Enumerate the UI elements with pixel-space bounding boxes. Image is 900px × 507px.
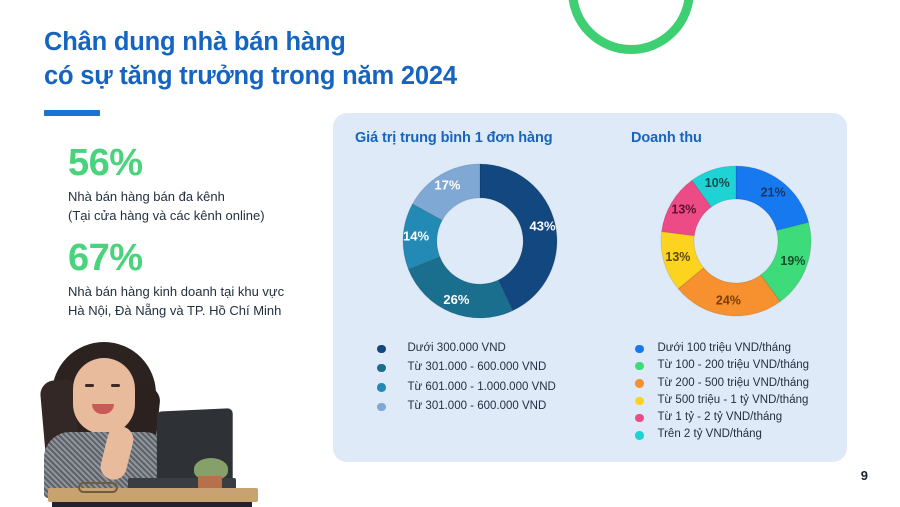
stats-list: 56% Nhà bán hàng bán đa kênh (Tại cửa hà… [68, 144, 328, 335]
stat-description: Nhà bán hàng bán đa kênh (Tại cửa hàng v… [68, 188, 328, 226]
donut-slice-label: 13% [665, 250, 690, 264]
donut-slice-label: 17% [434, 177, 460, 192]
stat-value: 56% [68, 144, 328, 183]
donut-slice-label: 43% [530, 218, 556, 233]
legend-color-dot-icon [377, 345, 386, 354]
legend-item[interactable]: Dưới 300.000 VND [355, 342, 605, 356]
legend-label: Từ 100 - 200 triệu VND/tháng [658, 359, 810, 373]
legend-label: Từ 301.000 - 600.000 VND [408, 361, 547, 375]
donut-chart-order-value: 43%26%14%17% [355, 146, 605, 336]
legend-item[interactable]: Dưới 100 triệu VND/tháng [631, 342, 841, 356]
legend-item[interactable]: Từ 301.000 - 600.000 VND [355, 361, 605, 375]
legend-color-dot-icon [377, 403, 386, 412]
legend-color-dot-icon [377, 364, 386, 373]
stat-value: 67% [68, 239, 328, 278]
chart-title: Giá trị trung bình 1 đơn hàng [355, 130, 605, 146]
donut-slice-label: 19% [780, 254, 805, 268]
legend-item[interactable]: Từ 1 tỷ - 2 tỷ VND/tháng [631, 411, 841, 425]
legend-label: Dưới 300.000 VND [408, 342, 506, 356]
stat-description-line-1: Nhà bán hàng bán đa kênh [68, 188, 328, 207]
legend-label: Từ 301.000 - 600.000 VND [408, 400, 547, 414]
stat-description-line-1: Nhà bán hàng kinh doanh tại khu vực [68, 283, 328, 302]
legend-label: Từ 500 triệu - 1 tỷ VND/tháng [658, 394, 809, 408]
legend-color-dot-icon [635, 414, 644, 423]
decorative-green-ring [568, 0, 694, 54]
chart-legend-revenue: Dưới 100 triệu VND/thángTừ 100 - 200 tri… [631, 342, 841, 442]
title-accent-bar [44, 110, 100, 116]
donut-slice[interactable] [408, 257, 512, 318]
page-title: Chân dung nhà bán hàng có sự tăng trưởng… [44, 26, 514, 93]
legend-label: Từ 1 tỷ - 2 tỷ VND/tháng [658, 411, 783, 425]
stat-description-line-2: Hà Nội, Đà Nẵng và TP. Hồ Chí Minh [68, 302, 328, 321]
donut-chart-revenue: 21%19%24%13%13%10% [631, 146, 841, 336]
legend-color-dot-icon [635, 397, 644, 406]
legend-color-dot-icon [377, 383, 386, 392]
seller-photo [0, 336, 310, 507]
stat-description: Nhà bán hàng kinh doanh tại khu vực Hà N… [68, 283, 328, 321]
photo-desk-shadow-icon [52, 502, 252, 507]
photo-glasses-icon [78, 482, 118, 493]
legend-item[interactable]: Từ 301.000 - 600.000 VND [355, 400, 605, 414]
slide-root: Chân dung nhà bán hàng có sự tăng trưởng… [0, 0, 900, 507]
legend-label: Từ 601.000 - 1.000.000 VND [408, 381, 556, 395]
donut-slice-label: 13% [671, 202, 696, 216]
page-title-line-1: Chân dung nhà bán hàng [44, 28, 346, 56]
photo-eye-left-icon [85, 384, 94, 387]
legend-color-dot-icon [635, 362, 644, 371]
chart-legend-order-value: Dưới 300.000 VNDTừ 301.000 - 600.000 VND… [355, 342, 605, 414]
legend-item[interactable]: Trên 2 tỷ VND/tháng [631, 428, 841, 442]
chart-order-value: Giá trị trung bình 1 đơn hàng 43%26%14%1… [355, 113, 605, 419]
donut-slice-label: 14% [403, 228, 429, 243]
donut-slice-label: 10% [705, 176, 730, 190]
donut-svg-order-value: 43%26%14%17% [355, 146, 605, 336]
legend-color-dot-icon [635, 431, 644, 440]
page-number: 9 [861, 468, 868, 483]
donut-slice-label: 26% [443, 292, 469, 307]
stat-item: 56% Nhà bán hàng bán đa kênh (Tại cửa hà… [68, 144, 328, 225]
stat-item: 67% Nhà bán hàng kinh doanh tại khu vực … [68, 239, 328, 320]
donut-slice-label: 24% [716, 293, 741, 307]
legend-label: Dưới 100 triệu VND/tháng [658, 342, 792, 356]
stat-description-line-2: (Tại cửa hàng và các kênh online) [68, 207, 328, 226]
photo-face-icon [73, 358, 135, 434]
page-title-line-2: có sự tăng trưởng trong năm 2024 [44, 60, 514, 94]
legend-item[interactable]: Từ 601.000 - 1.000.000 VND [355, 381, 605, 395]
legend-item[interactable]: Từ 500 triệu - 1 tỷ VND/tháng [631, 394, 841, 408]
photo-eye-right-icon [111, 384, 120, 387]
legend-label: Trên 2 tỷ VND/tháng [658, 428, 762, 442]
charts-panel: Giá trị trung bình 1 đơn hàng 43%26%14%1… [333, 113, 847, 462]
chart-revenue: Doanh thu 21%19%24%13%13%10% Dưới 100 tr… [631, 113, 841, 446]
legend-color-dot-icon [635, 345, 644, 354]
donut-slice-label: 21% [761, 185, 786, 199]
legend-item[interactable]: Từ 200 - 500 triệu VND/tháng [631, 377, 841, 391]
legend-color-dot-icon [635, 379, 644, 388]
chart-title: Doanh thu [631, 130, 841, 146]
donut-svg-revenue: 21%19%24%13%13%10% [631, 146, 841, 336]
legend-item[interactable]: Từ 100 - 200 triệu VND/tháng [631, 359, 841, 373]
legend-label: Từ 200 - 500 triệu VND/tháng [658, 377, 810, 391]
